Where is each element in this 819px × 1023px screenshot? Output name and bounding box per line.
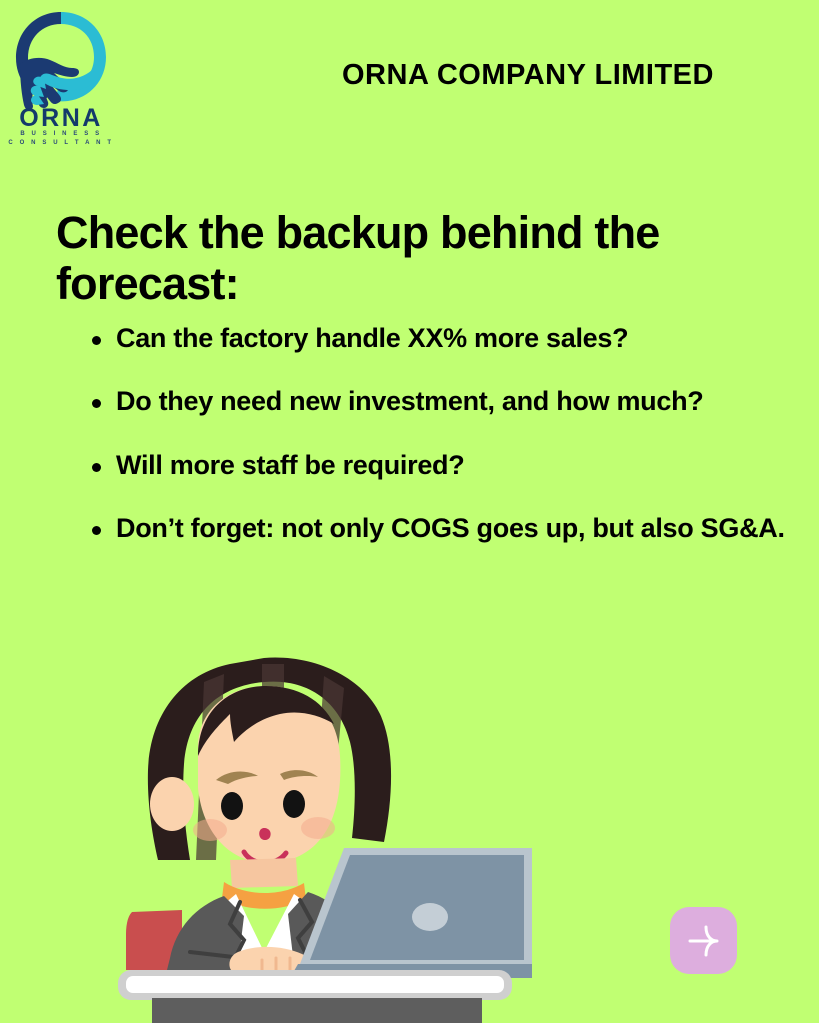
page-title: Check the backup behind the forecast: xyxy=(56,208,771,309)
bullet-dot-icon xyxy=(92,463,101,472)
company-title: ORNA COMPANY LIMITED xyxy=(342,59,714,92)
bullet-dot-icon xyxy=(92,526,101,535)
handshake-circle-logo-icon xyxy=(2,2,120,110)
logo-tagline-line1: B U S I N E S S xyxy=(2,130,120,139)
logo-tagline: B U S I N E S S C O N S U L T A N T xyxy=(2,130,120,147)
list-item-label: Do they need new investment, and how muc… xyxy=(116,386,703,416)
slide-canvas: ORNA B U S I N E S S C O N S U L T A N T… xyxy=(0,0,819,1023)
next-button[interactable]: Next xyxy=(670,907,737,974)
brand-logo: ORNA B U S I N E S S C O N S U L T A N T xyxy=(2,2,120,152)
list-item-label: Can the factory handle XX% more sales? xyxy=(116,323,628,353)
list-item: Can the factory handle XX% more sales? xyxy=(88,312,788,365)
bullet-dot-icon xyxy=(92,399,101,408)
list-item: Will more staff be required? xyxy=(88,439,788,492)
logo-tagline-line2: C O N S U L T A N T xyxy=(2,139,120,148)
logo-wordmark: ORNA xyxy=(2,106,120,131)
bullet-list: Can the factory handle XX% more sales? D… xyxy=(88,312,788,566)
bullet-dot-icon xyxy=(92,336,101,345)
arrow-right-icon xyxy=(682,919,726,963)
list-item: Don’t forget: not only COGS goes up, but… xyxy=(88,502,788,555)
businesswoman-at-laptop-illustration xyxy=(112,652,532,1023)
list-item-label: Don’t forget: not only COGS goes up, but… xyxy=(116,513,785,543)
list-item-label: Will more staff be required? xyxy=(116,450,464,480)
list-item: Do they need new investment, and how muc… xyxy=(88,375,788,428)
